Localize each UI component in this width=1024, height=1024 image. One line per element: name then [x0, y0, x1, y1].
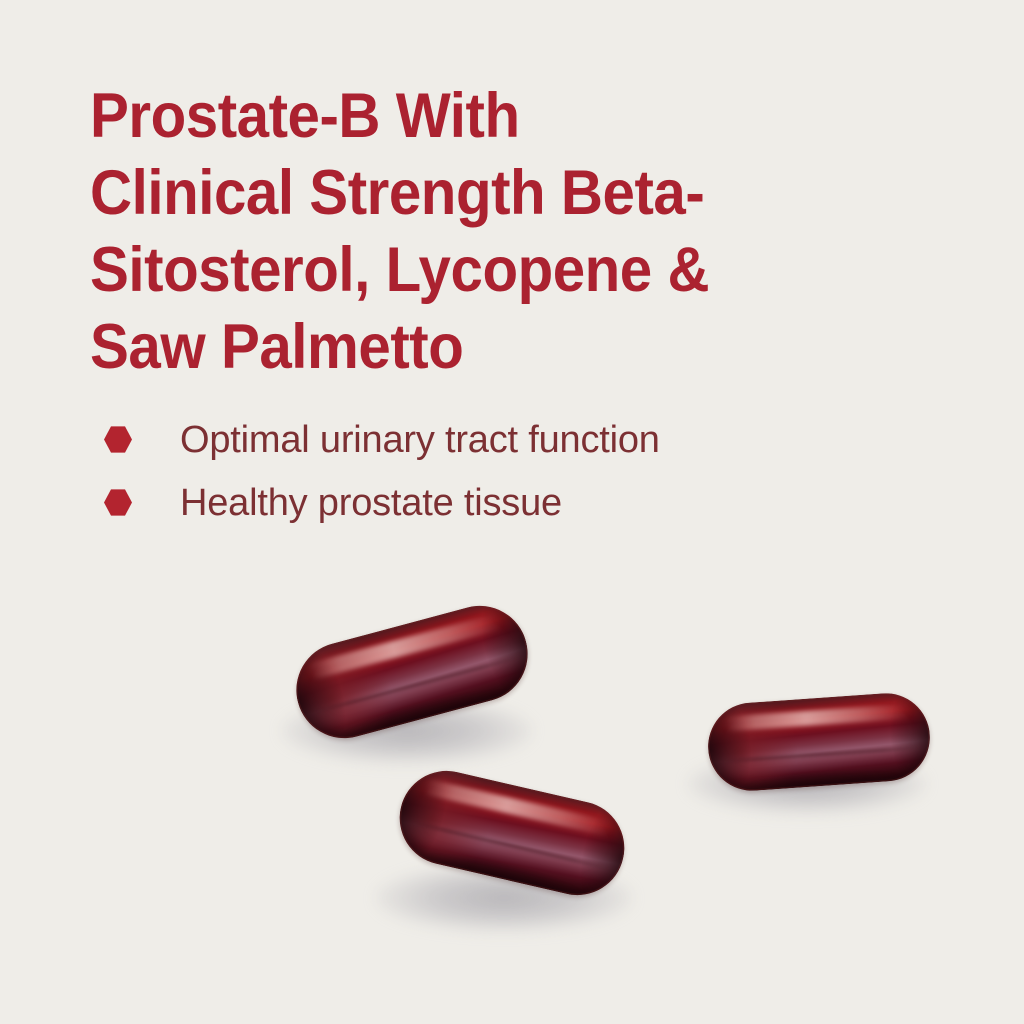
capsule-seam — [720, 746, 920, 763]
hexagon-bullet-icon — [104, 489, 132, 517]
capsule-rim — [705, 690, 933, 793]
benefit-list: Optimal urinary tract function Healthy p… — [104, 408, 904, 534]
benefit-label: Optimal urinary tract function — [180, 420, 660, 460]
product-marketing-banner: Prostate-B With Clinical Strength Beta- … — [0, 0, 1024, 1024]
capsule-body — [705, 690, 933, 793]
list-item: Optimal urinary tract function — [104, 408, 904, 471]
capsule-right — [692, 682, 946, 822]
capsule-top-left — [278, 610, 546, 760]
capsule-seam — [409, 821, 610, 870]
capsule-bottom-center — [380, 772, 646, 928]
hexagon-bullet-icon — [104, 426, 132, 454]
page-title: Prostate-B With Clinical Strength Beta- … — [90, 78, 858, 386]
list-item: Healthy prostate tissue — [104, 471, 904, 534]
product-photo — [0, 560, 1024, 1024]
benefit-label: Healthy prostate tissue — [180, 483, 562, 523]
